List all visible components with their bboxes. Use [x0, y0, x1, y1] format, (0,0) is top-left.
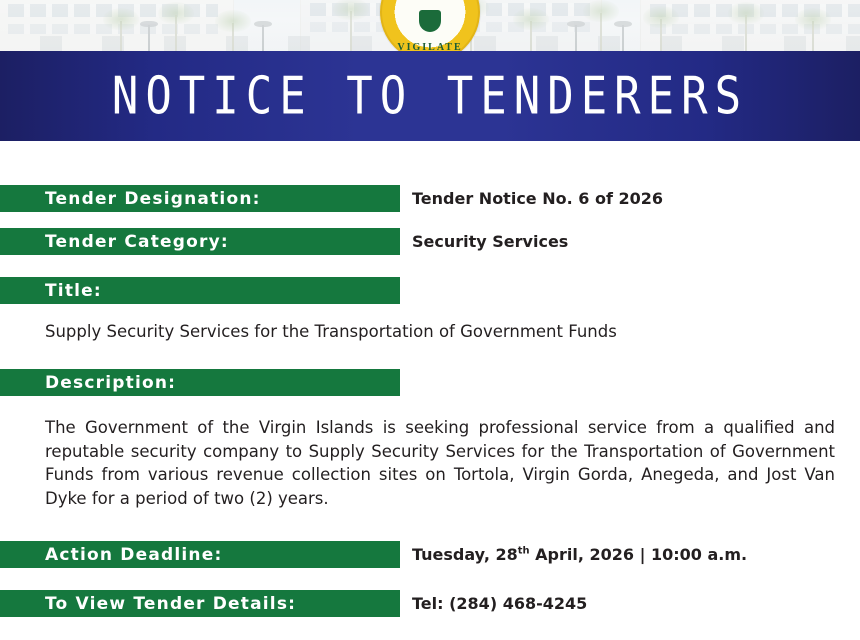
deadline-day: Tuesday, 28 — [412, 545, 518, 564]
label-description-text: Description: — [45, 373, 176, 393]
label-title-text: Title: — [45, 281, 102, 301]
label-tender-details: To View Tender Details: — [0, 590, 400, 617]
label-description: Description: — [0, 369, 400, 396]
label-action-deadline: Action Deadline: — [0, 541, 400, 568]
value-description: The Government of the Virgin Islands is … — [0, 416, 860, 510]
label-tender-designation: Tender Designation: — [0, 185, 400, 212]
field-row-tender-designation: Tender Designation: Tender Notice No. 6 … — [0, 185, 860, 212]
value-action-deadline: Tuesday, 28th April, 2026 | 10:00 a.m. — [400, 545, 747, 564]
label-tender-category: Tender Category: — [0, 228, 400, 255]
header-photo-banner: VIGILATE — [0, 0, 860, 51]
tel-label: Tel: — [412, 594, 444, 613]
seal-motto-text: VIGILATE — [382, 42, 478, 51]
label-tender-category-text: Tender Category: — [45, 232, 229, 252]
deadline-ordinal-suffix: th — [518, 546, 530, 557]
value-title: Supply Security Services for the Transpo… — [0, 320, 860, 343]
seal-shield-icon — [419, 10, 441, 32]
label-action-deadline-text: Action Deadline: — [45, 545, 222, 565]
notice-banner: NOTICE TO TENDERERS — [0, 51, 860, 141]
page-title: NOTICE TO TENDERERS — [112, 66, 748, 126]
field-row-tender-details: To View Tender Details: Tel: (284) 468-4… — [0, 590, 860, 617]
label-title: Title: — [0, 277, 400, 304]
value-tender-designation: Tender Notice No. 6 of 2026 — [400, 189, 663, 208]
tel-number: (284) 468-4245 — [444, 594, 588, 613]
deadline-rest: April, 2026 | 10:00 a.m. — [530, 545, 748, 564]
value-tender-category: Security Services — [400, 232, 568, 251]
notice-body: Tender Designation: Tender Notice No. 6 … — [0, 141, 860, 617]
government-seal-icon: VIGILATE — [380, 0, 480, 51]
label-tender-designation-text: Tender Designation: — [45, 189, 261, 209]
field-row-action-deadline: Action Deadline: Tuesday, 28th April, 20… — [0, 541, 860, 568]
label-tender-details-text: To View Tender Details: — [45, 594, 296, 614]
field-row-tender-category: Tender Category: Security Services — [0, 228, 860, 255]
value-tender-details: Tel: (284) 468-4245 — [400, 594, 587, 613]
